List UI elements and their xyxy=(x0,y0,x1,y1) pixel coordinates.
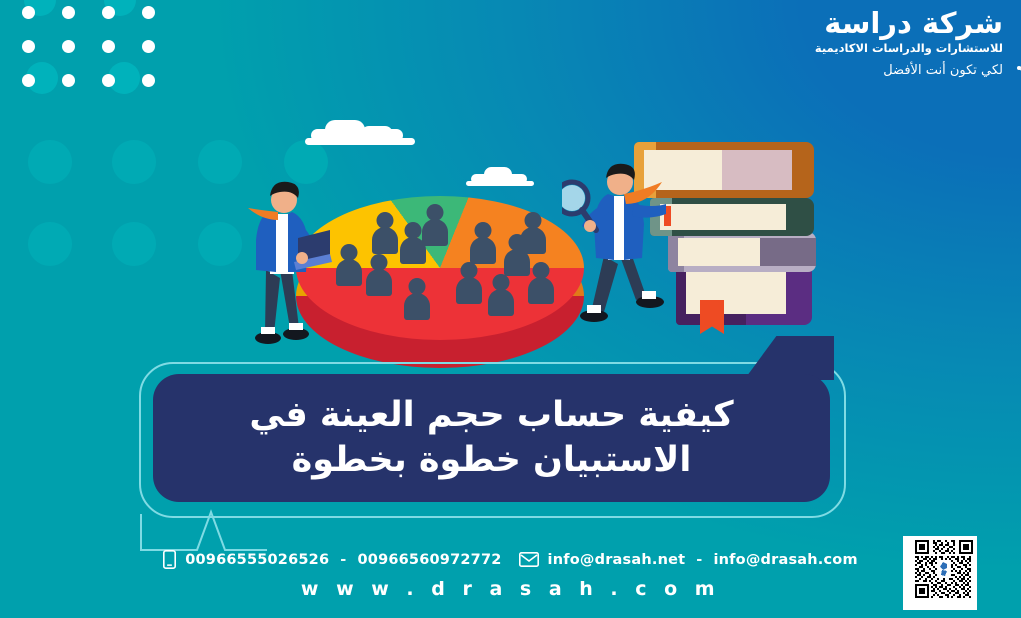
decor-dot xyxy=(22,74,35,87)
pie-chart-illustration xyxy=(296,196,584,368)
person-icon xyxy=(402,278,432,324)
decor-dot xyxy=(142,74,155,87)
brand-name: شركة دراسة xyxy=(815,8,1003,38)
decor-dot xyxy=(62,74,75,87)
decor-circle xyxy=(112,140,156,184)
analyst-with-laptop-figure xyxy=(232,178,332,358)
person-icon xyxy=(334,244,364,290)
book-pages xyxy=(660,204,786,230)
separator: - xyxy=(338,552,348,568)
title-banner: كيفية حساب حجم العينة في الاستبيان خطوة … xyxy=(153,374,830,502)
person-icon xyxy=(420,204,450,250)
page-title: كيفية حساب حجم العينة في الاستبيان خطوة … xyxy=(153,393,830,483)
email-primary[interactable]: info@drasah.net xyxy=(548,552,686,568)
mobile-phone-icon xyxy=(163,550,176,569)
dot-grid-decoration xyxy=(0,0,200,100)
email-secondary[interactable]: info@drasah.com xyxy=(713,552,857,568)
brand-tagline: لكي تكون أنت الأفضل xyxy=(815,61,1003,81)
person-icon xyxy=(518,212,548,258)
qr-code-image xyxy=(915,540,973,598)
researcher-with-magnifier-figure xyxy=(562,160,672,340)
bookmark-icon xyxy=(700,300,724,334)
book-edge xyxy=(722,150,792,190)
decor-dot xyxy=(102,74,115,87)
decor-dot xyxy=(142,40,155,53)
person-icon xyxy=(486,274,516,320)
brand-logo[interactable]: شركة دراسة للاستشارات والدراسات الاكاديم… xyxy=(815,8,1003,80)
phone-primary[interactable]: 00966555026526 xyxy=(185,552,329,568)
brand-subtitle: للاستشارات والدراسات الاكاديمية xyxy=(815,40,1003,57)
separator: - xyxy=(694,552,704,568)
decor-dot xyxy=(22,40,35,53)
decor-dot xyxy=(102,40,115,53)
person-icon xyxy=(526,262,556,308)
decor-circle xyxy=(28,140,72,184)
person-icon xyxy=(364,254,394,300)
cloud-icon xyxy=(466,166,536,188)
qr-code[interactable] xyxy=(903,536,977,610)
book-edge xyxy=(760,238,816,266)
phone-secondary[interactable]: 00966560972772 xyxy=(357,552,501,568)
decor-circle xyxy=(112,222,156,266)
person-icon xyxy=(370,212,400,258)
decor-dot xyxy=(62,40,75,53)
poster-canvas: كيفية حساب حجم العينة في الاستبيان خطوة … xyxy=(0,0,1021,618)
contact-row: 00966555026526 - 00966560972772 info@dra… xyxy=(0,550,1021,569)
website-url[interactable]: w w w . d r a s a h . c o m xyxy=(0,578,1021,600)
cloud-icon xyxy=(305,118,417,148)
decor-dot xyxy=(102,6,115,19)
person-icon xyxy=(454,262,484,308)
decor-dot xyxy=(62,6,75,19)
network-swoosh-icon xyxy=(1011,12,1021,96)
decor-circle xyxy=(28,222,72,266)
decor-dot xyxy=(142,6,155,19)
decor-dot xyxy=(22,6,35,19)
footer-contact: 00966555026526 - 00966560972772 info@dra… xyxy=(0,550,1021,600)
envelope-icon xyxy=(519,552,539,567)
